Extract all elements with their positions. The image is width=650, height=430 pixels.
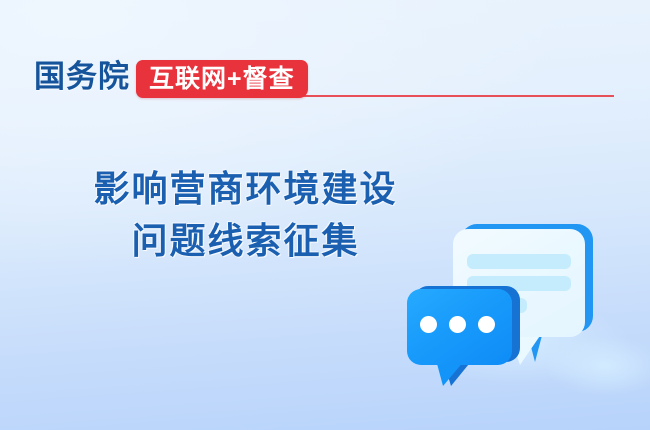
banner-header: 国务院 互联网+督查	[34, 58, 614, 102]
header-divider-rule	[292, 95, 614, 97]
ellipsis-dot-1-icon	[420, 316, 437, 333]
ellipsis-dot-2-icon	[449, 316, 466, 333]
glow-accent-right-icon	[545, 336, 650, 396]
badge-label: 互联网+督查	[149, 65, 295, 93]
promo-banner: 国务院 互联网+督查 影响营商环境建设 问题线索征集	[0, 0, 650, 430]
internet-plus-supervision-badge: 互联网+督查	[136, 60, 308, 98]
ellipsis-dot-3-icon	[478, 316, 495, 333]
gov-council-label: 国务院	[34, 58, 130, 96]
bubble-text-line-1-icon	[467, 254, 571, 269]
chat-bubbles-illustration	[395, 196, 650, 401]
